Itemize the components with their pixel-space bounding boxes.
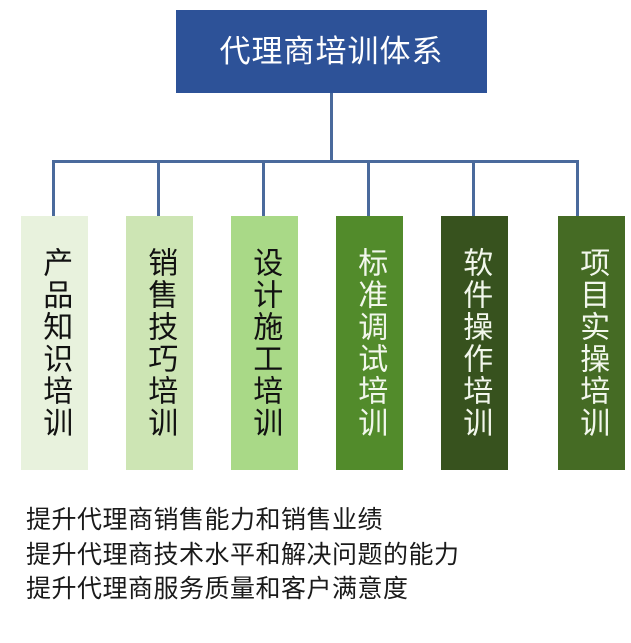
connector-bus-horizontal xyxy=(52,160,579,163)
leaf-node-product-knowledge[interactable]: 产品知识培训 xyxy=(21,216,88,470)
leaf-node-sales-skills[interactable]: 销售技巧培训 xyxy=(126,216,193,470)
leaf-node-design-construction[interactable]: 设计施工培训 xyxy=(231,216,298,470)
note-line-1: 提升代理商销售能力和销售业绩 xyxy=(26,503,616,538)
note-line-3: 提升代理商服务质量和客户满意度 xyxy=(26,572,616,607)
connector-branch-4 xyxy=(367,160,370,217)
connector-branch-3 xyxy=(262,160,265,217)
root-node-label: 代理商培训体系 xyxy=(220,36,444,67)
leaf-node-label: 设计施工培训 xyxy=(247,247,282,439)
leaf-node-label: 标准调试培训 xyxy=(352,247,387,439)
leaf-node-label: 软件操作培训 xyxy=(457,247,492,439)
connector-branch-2 xyxy=(157,160,160,217)
connector-branch-5 xyxy=(472,160,475,217)
leaf-node-project-practice[interactable]: 项目实操培训 xyxy=(558,216,625,470)
training-system-diagram: 代理商培训体系 产品知识培训 销售技巧培训 设计施工培训 标准调试培训 软件操作… xyxy=(0,0,631,643)
connector-trunk-vertical xyxy=(330,93,333,161)
connector-branch-6 xyxy=(576,160,579,217)
note-line-2: 提升代理商技术水平和解决问题的能力 xyxy=(26,538,616,573)
leaf-node-standard-debugging[interactable]: 标准调试培训 xyxy=(336,216,403,470)
leaf-node-label: 产品知识培训 xyxy=(37,247,72,439)
leaf-node-software-operation[interactable]: 软件操作培训 xyxy=(441,216,508,470)
goal-notes: 提升代理商销售能力和销售业绩 提升代理商技术水平和解决问题的能力 提升代理商服务… xyxy=(26,503,616,607)
root-node-training-system[interactable]: 代理商培训体系 xyxy=(176,10,487,93)
leaf-node-label: 项目实操培训 xyxy=(574,247,609,439)
leaf-node-label: 销售技巧培训 xyxy=(142,247,177,439)
connector-branch-1 xyxy=(52,160,55,217)
